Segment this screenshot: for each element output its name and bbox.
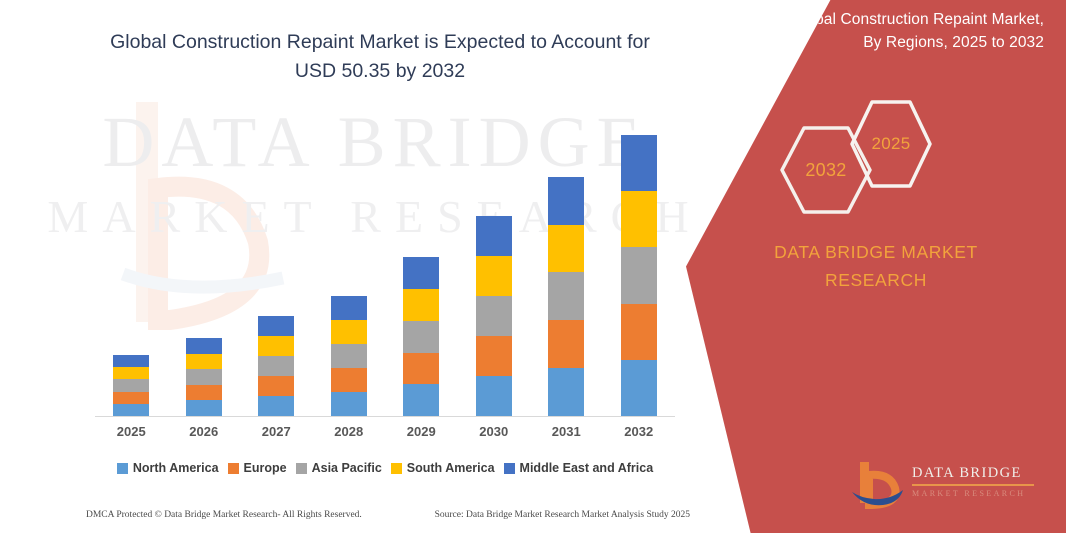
legend-item[interactable]: South America	[391, 461, 495, 475]
legend-item[interactable]: Asia Pacific	[296, 461, 382, 475]
page-title-line-1: Global Construction Repaint Market is Ex…	[110, 31, 650, 53]
x-axis-tick-2025: 2025	[98, 424, 164, 439]
footer: DMCA Protected © Data Bridge Market Rese…	[60, 506, 690, 524]
legend-label: Middle East and Africa	[520, 461, 654, 475]
page-title-line-2: USD 50.35 by 2032	[60, 57, 700, 86]
x-axis-tick-2032: 2032	[606, 424, 672, 439]
bar-segment	[403, 257, 439, 289]
bar-segment	[331, 392, 367, 416]
brand-name: DATA BRIDGE MARKET RESEARCH	[686, 238, 1066, 294]
bar-segment	[113, 367, 149, 379]
bar-segment	[186, 385, 222, 401]
bar-segment	[621, 360, 657, 416]
bar-column	[476, 216, 512, 416]
legend-item[interactable]: North America	[117, 461, 219, 475]
chart-legend: North AmericaEuropeAsia PacificSouth Ame…	[95, 458, 675, 478]
bar-segment	[258, 376, 294, 396]
bar-segment	[476, 256, 512, 296]
data-bridge-logo: DATA BRIDGE MARKET RESEARCH	[850, 459, 1036, 511]
hexagon-group: 2032 2025	[778, 96, 948, 221]
logo-name: DATA BRIDGE	[912, 465, 1036, 482]
bar-segment	[113, 404, 149, 416]
bar-segment	[476, 336, 512, 376]
legend-swatch-icon	[504, 463, 515, 474]
page-title: Global Construction Repaint Market is Ex…	[60, 28, 700, 87]
legend-label: North America	[133, 461, 219, 475]
bar-segment	[186, 354, 222, 370]
logo-divider	[912, 484, 1034, 486]
bar-segment	[258, 396, 294, 416]
legend-label: Asia Pacific	[312, 461, 382, 475]
bar-segment	[331, 368, 367, 392]
footer-copyright: DMCA Protected © Data Bridge Market Rese…	[86, 510, 362, 520]
data-bridge-logo-text: DATA BRIDGE MARKET RESEARCH	[912, 465, 1036, 498]
legend-label: Europe	[244, 461, 287, 475]
bar-segment	[621, 191, 657, 247]
bar-segment	[186, 400, 222, 416]
bar-column	[258, 316, 294, 416]
brand-line-2: RESEARCH	[686, 266, 1066, 294]
bar-segment	[476, 376, 512, 416]
right-side-panel: Global Construction Repaint Market, By R…	[686, 0, 1066, 533]
bar-column	[331, 296, 367, 416]
bar-segment	[258, 356, 294, 376]
bar-segment	[476, 216, 512, 256]
bar-segment	[186, 338, 222, 354]
data-bridge-logo-mark-icon	[850, 459, 906, 511]
bar-segment	[113, 392, 149, 404]
x-axis-tick-2031: 2031	[533, 424, 599, 439]
logo-subtitle: MARKET RESEARCH	[912, 489, 1036, 498]
legend-swatch-icon	[117, 463, 128, 474]
bar-segment	[403, 321, 439, 353]
bar-segment	[621, 247, 657, 303]
bar-segment	[621, 135, 657, 191]
legend-item[interactable]: Middle East and Africa	[504, 461, 654, 475]
hexagon-2025-label: 2025	[848, 96, 934, 192]
legend-swatch-icon	[391, 463, 402, 474]
bar-segment	[258, 316, 294, 336]
bar-segment	[403, 384, 439, 416]
bar-segment	[186, 369, 222, 385]
legend-item[interactable]: Europe	[228, 461, 287, 475]
bar-column	[621, 135, 657, 416]
bar-segment	[403, 353, 439, 385]
x-axis-tick-2029: 2029	[388, 424, 454, 439]
bar-segment	[403, 289, 439, 321]
infographic-page: DATA BRIDGE MARKET RESEARCH Global Const…	[0, 0, 1066, 533]
bar-column	[403, 257, 439, 416]
legend-label: South America	[407, 461, 495, 475]
panel-title: Global Construction Repaint Market, By R…	[744, 8, 1044, 55]
bar-segment	[548, 272, 584, 320]
bar-segment	[113, 379, 149, 391]
panel-title-line-1: Global Construction Repaint Market,	[791, 11, 1044, 28]
legend-swatch-icon	[228, 463, 239, 474]
bar-column	[186, 338, 222, 416]
bar-segment	[621, 304, 657, 360]
bar-segment	[331, 296, 367, 320]
bar-segment	[113, 355, 149, 367]
bar-column	[113, 355, 149, 416]
panel-title-line-2: By Regions, 2025 to 2032	[744, 31, 1044, 54]
x-axis-tick-2030: 2030	[461, 424, 527, 439]
bar-column	[548, 177, 584, 416]
x-axis-tick-2028: 2028	[316, 424, 382, 439]
footer-source: Source: Data Bridge Market Research Mark…	[435, 510, 690, 520]
x-axis-tick-labels: 20252026202720282029203020312032	[95, 424, 675, 446]
bar-segment	[548, 225, 584, 273]
legend-swatch-icon	[296, 463, 307, 474]
x-axis-tick-2026: 2026	[171, 424, 237, 439]
hexagon-2025: 2025	[848, 96, 934, 192]
x-axis-tick-2027: 2027	[243, 424, 309, 439]
bar-segment	[258, 336, 294, 356]
bar-segment	[548, 368, 584, 416]
brand-line-1: DATA BRIDGE MARKET	[686, 238, 1066, 266]
bar-segment	[331, 320, 367, 344]
bar-segment	[331, 344, 367, 368]
bar-segment	[548, 177, 584, 225]
axis-baseline	[95, 416, 675, 417]
bar-chart-plot-area	[95, 110, 675, 416]
bar-segment	[476, 296, 512, 336]
bar-segment	[548, 320, 584, 368]
